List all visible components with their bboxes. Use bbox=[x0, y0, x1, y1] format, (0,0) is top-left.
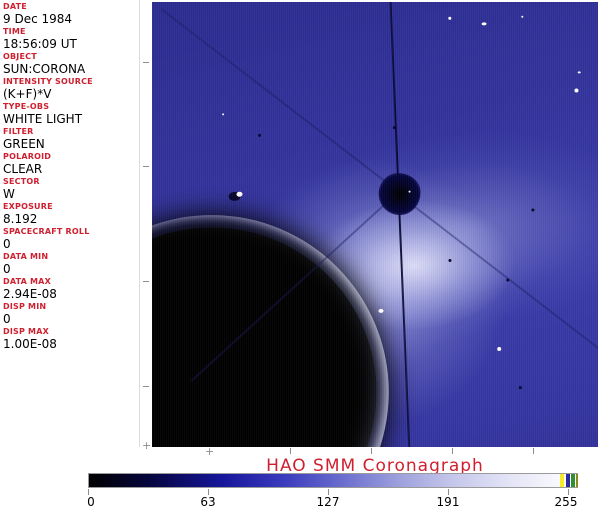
metadata-value-time: 18:56:09 UT bbox=[3, 37, 139, 51]
metadata-value-exposure: 8.192 bbox=[3, 212, 139, 226]
axis-tick-bottom bbox=[371, 448, 372, 454]
metadata-label-data-min: DATA MIN bbox=[3, 252, 139, 262]
metadata-label-spacecraft-roll: SPACECRAFT ROLL bbox=[3, 227, 139, 237]
metadata-value-date: 9 Dec 1984 bbox=[3, 12, 139, 26]
metadata-value-data-min: 0 bbox=[3, 262, 139, 276]
axis-tick-left bbox=[143, 386, 149, 387]
metadata-value-sector: W bbox=[3, 187, 139, 201]
dust-speck bbox=[448, 259, 451, 262]
star-speck bbox=[448, 17, 451, 20]
axis-tick-left bbox=[143, 62, 149, 63]
metadata-row-time: TIME 18:56:09 UT bbox=[3, 27, 139, 51]
metadata-label-time: TIME bbox=[3, 27, 139, 37]
metadata-label-sector: SECTOR bbox=[3, 177, 139, 187]
star-speck bbox=[409, 191, 411, 193]
axis-tick-left bbox=[143, 281, 149, 282]
corona-sky-field bbox=[152, 2, 598, 447]
metadata-value-spacecraft-roll: 0 bbox=[3, 237, 139, 251]
star-speck bbox=[378, 309, 383, 313]
metadata-value-object: SUN:CORONA bbox=[3, 62, 139, 76]
dust-speck bbox=[519, 386, 522, 389]
metadata-row-polaroid: POLAROID CLEAR bbox=[3, 152, 139, 176]
metadata-panel: DATE 9 Dec 1984 TIME 18:56:09 UT OBJECT … bbox=[0, 0, 140, 447]
metadata-label-polaroid: POLAROID bbox=[3, 152, 139, 162]
metadata-label-disp-max: DISP MAX bbox=[3, 327, 139, 337]
metadata-label-disp-min: DISP MIN bbox=[3, 302, 139, 312]
metadata-label-data-max: DATA MAX bbox=[3, 277, 139, 287]
colorbar-label-63: 63 bbox=[200, 496, 215, 509]
dust-speck bbox=[393, 126, 396, 129]
colorbar-extra-yellow bbox=[560, 474, 564, 487]
metadata-label-intensity-source: INTENSITY SOURCE bbox=[3, 77, 139, 87]
colorbar-extra-green bbox=[571, 474, 575, 487]
metadata-row-object: OBJECT SUN:CORONA bbox=[3, 52, 139, 76]
metadata-row-data-max: DATA MAX 2.94E-08 bbox=[3, 277, 139, 301]
metadata-value-polaroid: CLEAR bbox=[3, 162, 139, 176]
metadata-row-spacecraft-roll: SPACECRAFT ROLL 0 bbox=[3, 227, 139, 251]
axis-tick-bottom bbox=[290, 448, 291, 454]
star-speck bbox=[497, 347, 501, 351]
metadata-value-data-max: 2.94E-08 bbox=[3, 287, 139, 301]
metadata-row-type-obs: TYPE-OBS WHITE LIGHT bbox=[3, 102, 139, 126]
star-speck bbox=[521, 16, 523, 18]
colorbar-extra-olive bbox=[576, 474, 578, 487]
metadata-row-exposure: EXPOSURE 8.192 bbox=[3, 202, 139, 226]
metadata-label-filter: FILTER bbox=[3, 127, 139, 137]
metadata-label-type-obs: TYPE-OBS bbox=[3, 102, 139, 112]
dust-speck bbox=[258, 134, 261, 137]
metadata-row-date: DATE 9 Dec 1984 bbox=[3, 2, 139, 26]
axis-tick-left bbox=[143, 166, 149, 167]
star-speck bbox=[482, 22, 487, 25]
colorbar-gradient bbox=[88, 473, 578, 488]
metadata-row-sector: SECTOR W bbox=[3, 177, 139, 201]
coronagraph-display: DATE 9 Dec 1984 TIME 18:56:09 UT OBJECT … bbox=[0, 0, 600, 512]
metadata-value-intensity-source: (K+F)*V bbox=[3, 87, 139, 101]
metadata-row-disp-min: DISP MIN 0 bbox=[3, 302, 139, 326]
metadata-row-intensity-source: INTENSITY SOURCE (K+F)*V bbox=[3, 77, 139, 101]
metadata-row-disp-max: DISP MAX 1.00E-08 bbox=[3, 327, 139, 351]
colorbar-label-127: 127 bbox=[317, 496, 340, 509]
corona-limb-arc bbox=[152, 208, 396, 447]
metadata-label-date: DATE bbox=[3, 2, 139, 12]
star-speck bbox=[578, 71, 581, 73]
star-speck bbox=[574, 88, 578, 92]
metadata-value-disp-max: 1.00E-08 bbox=[3, 337, 139, 351]
dust-speck bbox=[506, 279, 509, 282]
bright-blob bbox=[236, 192, 242, 197]
axis-origin-marker-left: + bbox=[142, 440, 151, 451]
colorbar-label-255: 255 bbox=[555, 496, 578, 509]
colorbar-extra-blue bbox=[566, 474, 570, 487]
axis-tick-bottom bbox=[452, 448, 453, 454]
metadata-label-object: OBJECT bbox=[3, 52, 139, 62]
colorbar[interactable]: 0 63 127 191 255 bbox=[88, 473, 592, 512]
colorbar-label-191: 191 bbox=[437, 496, 460, 509]
star-speck bbox=[222, 113, 224, 115]
dust-speck bbox=[531, 208, 534, 211]
occulter-pylon bbox=[388, 2, 412, 447]
coronagraph-image[interactable] bbox=[152, 2, 598, 447]
metadata-value-filter: GREEN bbox=[3, 137, 139, 151]
metadata-value-type-obs: WHITE LIGHT bbox=[3, 112, 139, 126]
metadata-row-data-min: DATA MIN 0 bbox=[3, 252, 139, 276]
colorbar-label-0: 0 bbox=[87, 496, 95, 509]
metadata-value-disp-min: 0 bbox=[3, 312, 139, 326]
diffraction-line-2 bbox=[161, 8, 400, 193]
metadata-label-exposure: EXPOSURE bbox=[3, 202, 139, 212]
axis-tick-bottom bbox=[533, 448, 534, 454]
metadata-row-filter: FILTER GREEN bbox=[3, 127, 139, 151]
inner-occulter-blob bbox=[378, 172, 422, 216]
